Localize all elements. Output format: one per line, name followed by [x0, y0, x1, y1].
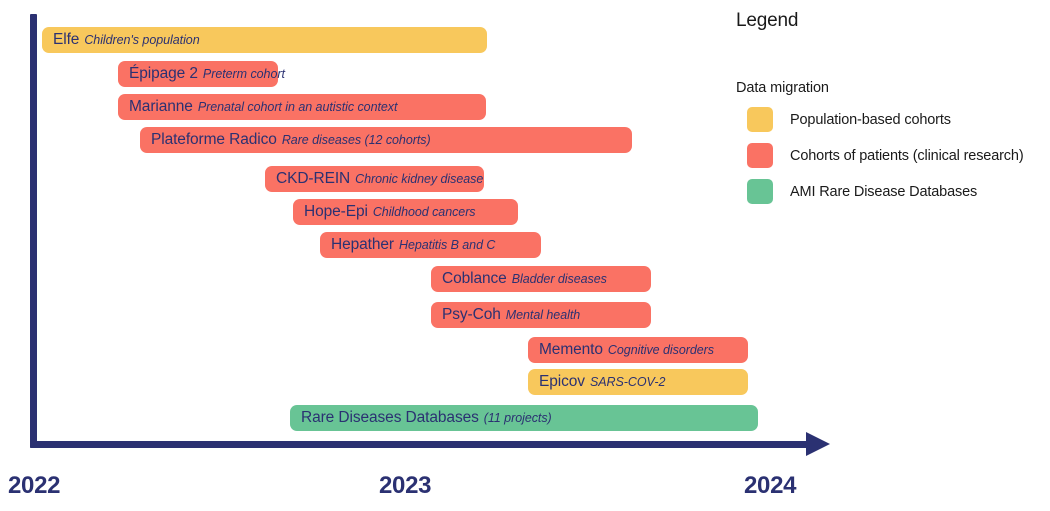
legend-item-label: Cohorts of patients (clinical research)	[790, 148, 1024, 164]
timeline-bar-name: CKD-REIN	[276, 170, 350, 188]
timeline-bar: Psy-CohMental health	[431, 302, 651, 328]
timeline-bar-name: Hope-Epi	[304, 203, 368, 221]
timeline-bar: Plateforme RadicoRare diseases (12 cohor…	[140, 127, 632, 153]
legend-color-swatch	[747, 107, 773, 132]
timeline-bar-description: Prenatal cohort in an autistic context	[198, 100, 398, 114]
timeline-bar-description: Chronic kidney disease	[355, 172, 483, 186]
timeline-bar-description: Children's population	[84, 33, 199, 47]
timeline-bar-description: (11 projects)	[484, 411, 552, 425]
timeline-bar-name: Epicov	[539, 373, 585, 391]
legend: Legend Data migration Population-based c…	[736, 10, 1046, 215]
timeline-bar-description: Bladder diseases	[512, 272, 607, 286]
timeline-bar-description: Childhood cancers	[373, 205, 476, 219]
timeline-bar: MariannePrenatal cohort in an autistic c…	[118, 94, 486, 120]
timeline-bar: Épipage 2Preterm cohort	[118, 61, 278, 87]
timeline-bar-description: Cognitive disorders	[608, 343, 714, 357]
timeline-bar: CKD-REINChronic kidney disease	[265, 166, 484, 192]
x-axis-arrow-icon	[806, 432, 830, 456]
timeline-bar-description: Preterm cohort	[203, 67, 285, 81]
timeline-bar-description: Rare diseases (12 cohorts)	[282, 133, 431, 147]
timeline-bar-name: Marianne	[129, 98, 193, 116]
timeline-bar-name: Elfe	[53, 31, 79, 49]
timeline-bar: Hope-EpiChildhood cancers	[293, 199, 518, 225]
legend-item: AMI Rare Disease Databases	[736, 179, 1046, 204]
timeline-bar-description: Mental health	[506, 308, 580, 322]
timeline-bar-name: Épipage 2	[129, 65, 198, 83]
timeline-bar-name: Coblance	[442, 270, 507, 288]
legend-item: Population-based cohorts	[736, 107, 1046, 132]
x-axis-tick-label: 2024	[744, 472, 796, 500]
timeline-bar-name: Psy-Coh	[442, 306, 501, 324]
timeline-chart: ElfeChildren's populationÉpipage 2Preter…	[0, 0, 1050, 511]
timeline-bar-name: Plateforme Radico	[151, 131, 277, 149]
timeline-bar: HepatherHepatitis B and C	[320, 232, 541, 258]
x-axis-tick-label: 2022	[8, 472, 60, 500]
legend-color-swatch	[747, 143, 773, 168]
legend-subtitle: Data migration	[736, 80, 1046, 96]
timeline-bar-description: Hepatitis B and C	[399, 238, 495, 252]
timeline-bar-name: Hepather	[331, 236, 394, 254]
legend-item: Cohorts of patients (clinical research)	[736, 143, 1046, 168]
legend-title: Legend	[736, 10, 1046, 32]
legend-item-label: Population-based cohorts	[790, 112, 951, 128]
timeline-bar: ElfeChildren's population	[42, 27, 487, 53]
legend-entries: Population-based cohortsCohorts of patie…	[736, 107, 1046, 204]
timeline-bar-name: Memento	[539, 341, 603, 359]
x-axis-tick-label: 2023	[379, 472, 431, 500]
timeline-bar-name: Rare Diseases Databases	[301, 409, 479, 427]
timeline-bar: EpicovSARS-COV-2	[528, 369, 748, 395]
timeline-bar-description: SARS-COV-2	[590, 375, 665, 389]
y-axis-line	[30, 14, 37, 448]
timeline-bar: Rare Diseases Databases(11 projects)	[290, 405, 758, 431]
x-axis-line	[30, 441, 810, 448]
legend-color-swatch	[747, 179, 773, 204]
legend-item-label: AMI Rare Disease Databases	[790, 184, 977, 200]
timeline-bar: MementoCognitive disorders	[528, 337, 748, 363]
timeline-bar: CoblanceBladder diseases	[431, 266, 651, 292]
